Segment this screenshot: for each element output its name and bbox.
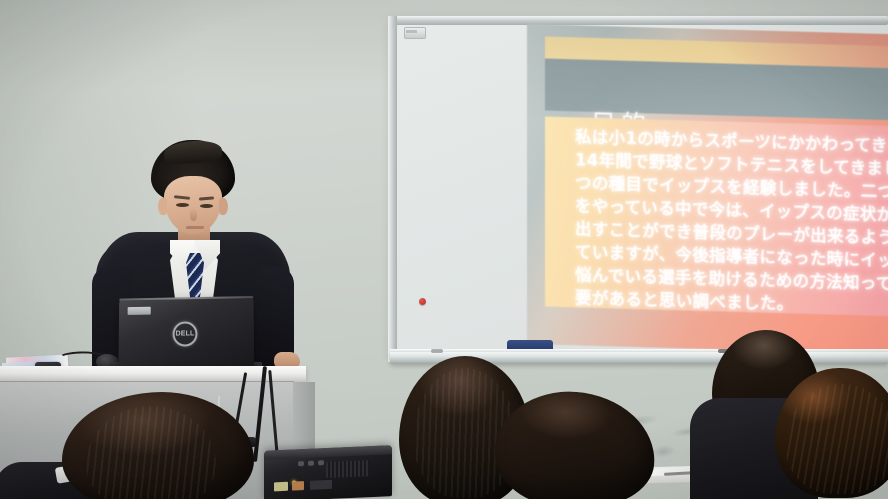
audience-member-center-right	[495, 392, 655, 499]
projector-port-audio	[274, 482, 288, 492]
presenter-ear-right	[219, 198, 228, 215]
presenter-eye-right	[200, 204, 213, 208]
whiteboard-magnet	[419, 298, 426, 305]
presenter-arm-right	[254, 266, 294, 366]
projector	[264, 445, 392, 499]
projector-port-vga	[310, 480, 332, 490]
slide-projection-veil	[527, 24, 888, 354]
laptop[interactable]: DELL	[118, 296, 254, 369]
projector-button[interactable]	[308, 461, 314, 466]
presenter-eye-left	[176, 203, 189, 207]
dell-logo-icon: DELL	[173, 322, 198, 347]
whiteboard-frame-left	[388, 16, 397, 362]
projector-vent	[326, 460, 370, 478]
whiteboard-clip	[404, 27, 426, 39]
projector-button[interactable]	[298, 461, 304, 466]
whiteboard-marker	[431, 349, 443, 353]
presenter-ear-left	[158, 198, 167, 215]
audience-member-front-left	[62, 392, 254, 499]
hair	[491, 387, 659, 499]
projector-button[interactable]	[318, 460, 324, 465]
hair	[62, 392, 254, 499]
audience-member-far-right	[775, 368, 888, 498]
projected-slide: 目的 私は小1の時からスポーツにかかわってきました 14年間で野球とソフトテニス…	[527, 24, 888, 354]
classroom-presentation-scene: 目的 私は小1の時からスポーツにかかわってきました 14年間で野球とソフトテニス…	[0, 0, 888, 499]
whiteboard-clip-detail	[406, 30, 417, 33]
laptop-sticker	[128, 307, 151, 315]
whiteboard-frame-top	[388, 16, 888, 25]
presenter-nose	[190, 208, 197, 221]
projector-port-video	[292, 481, 304, 491]
presenter-mouth	[186, 226, 204, 229]
